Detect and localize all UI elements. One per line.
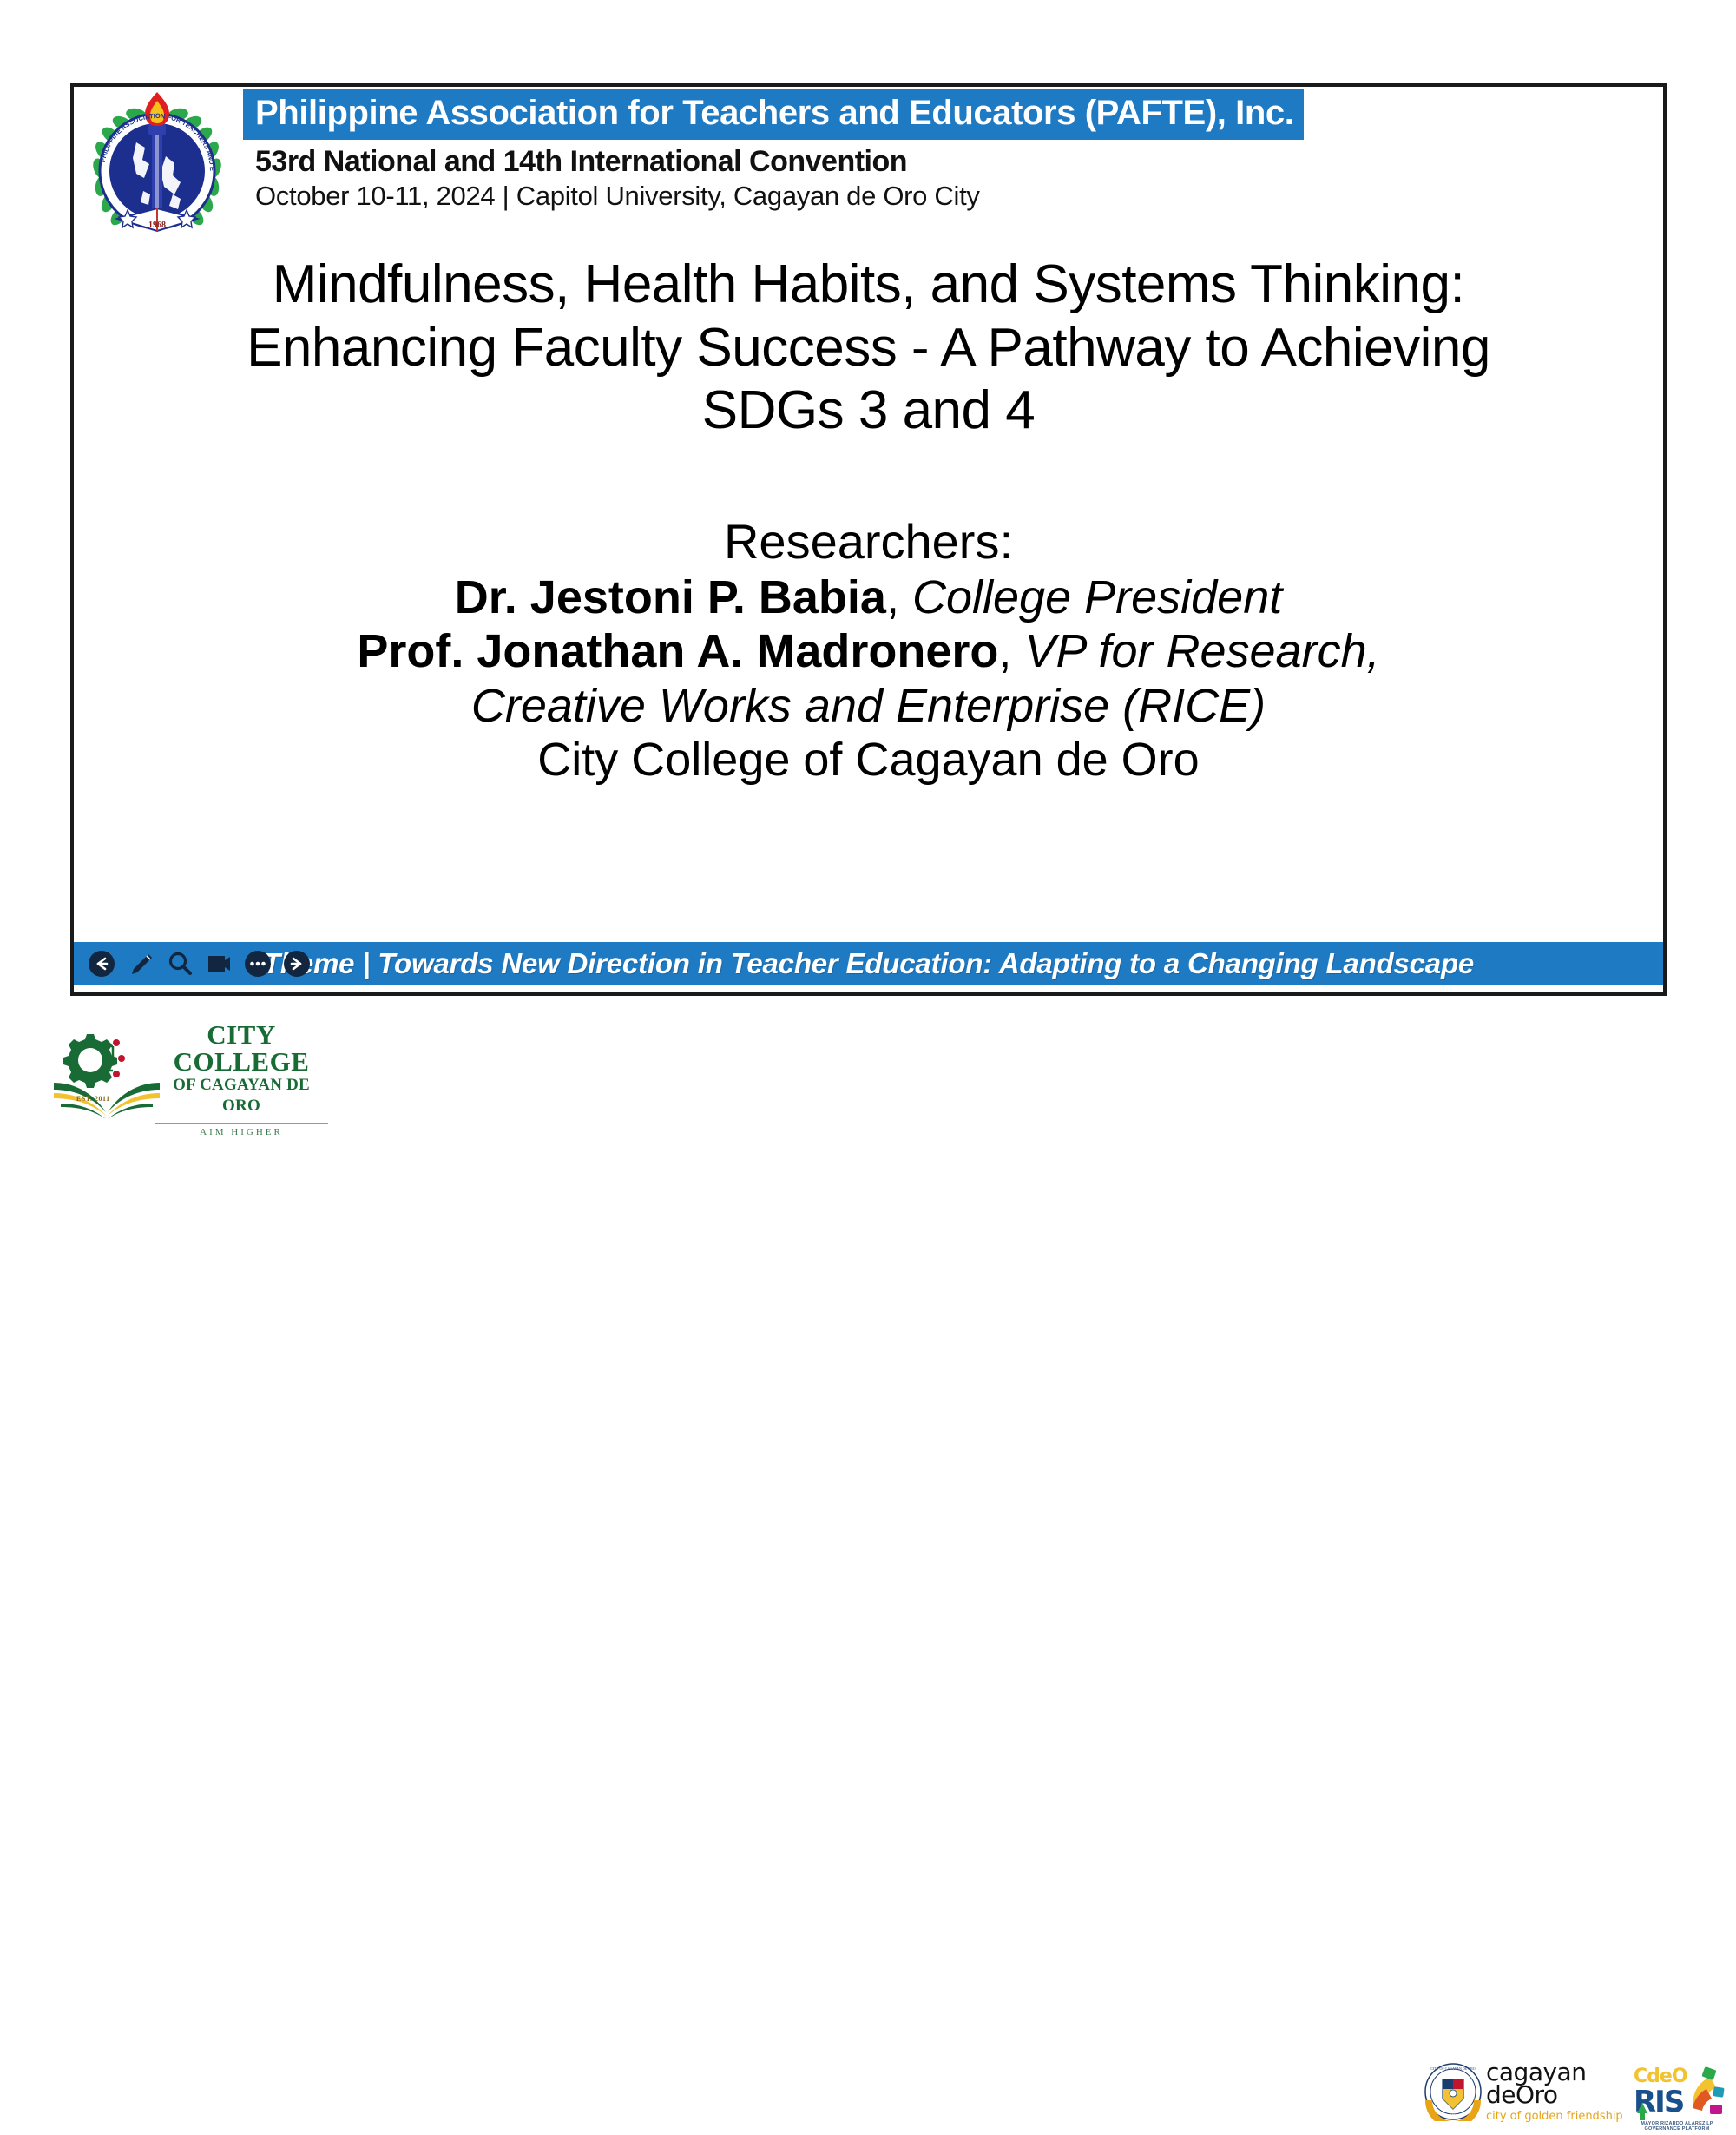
researcher-separator: , — [998, 625, 1024, 677]
convention-line: 53rd National and 14th International Con… — [243, 140, 1663, 178]
researcher-entry: Dr. Jestoni P. Babia, College President — [74, 570, 1663, 625]
cagayan-de-oro-wordmark: cagayan deOro city of golden friendship — [1486, 2061, 1625, 2123]
arrow-left-circle-icon — [87, 949, 116, 979]
pafte-seal-icon: 1968 PHILIPPINE ASSOCIATION FOR TEACHERS… — [82, 89, 232, 243]
slide-header: 1968 PHILIPPINE ASSOCIATION FOR TEACHERS… — [74, 87, 1663, 247]
title-researchers-spacer — [74, 443, 1663, 514]
city-college-title: CITY COLLEGE — [155, 1021, 328, 1075]
svg-text:PHILIPPINES: PHILIPPINES — [1443, 2113, 1463, 2118]
researcher-separator: , — [886, 571, 912, 623]
researcher-role-continuation: Creative Works and Enterprise (RICE) — [74, 679, 1663, 734]
city-college-wordmark: CITY COLLEGE OF CAGAYAN DE ORO AIM HIGHE… — [155, 1021, 328, 1137]
city-college-subtitle: OF CAGAYAN DE ORO — [155, 1075, 328, 1117]
arrow-right-circle-icon — [282, 949, 312, 979]
cdo-tagline: city of golden friendship — [1486, 2110, 1625, 2123]
researcher-name: Dr. Jestoni P. Babia — [455, 571, 886, 623]
theme-text: Theme | Towards New Direction in Teacher… — [263, 947, 1474, 980]
black-screen-toggle-button[interactable] — [203, 948, 234, 979]
theme-value: Towards New Direction in Teacher Educati… — [378, 947, 1474, 979]
researcher-role: College President — [912, 571, 1282, 623]
researcher-name: Prof. Jonathan A. Madronero — [357, 625, 998, 677]
next-slide-button[interactable] — [281, 948, 312, 979]
researcher-role: VP for Research, — [1024, 625, 1379, 677]
screen-icon — [204, 949, 233, 979]
more-options-button[interactable] — [242, 948, 273, 979]
page-footer: CITY COLLEGE OF CAGAYAN DE ORO AIM HIGHE… — [0, 1007, 1736, 1157]
organization-banner: Philippine Association for Teachers and … — [243, 89, 1304, 140]
pen-icon — [126, 949, 155, 979]
researchers-label: Researchers: — [74, 514, 1663, 570]
ris-tagline: MAYOR RIZARDO ALAREZ LP GOVERNANCE PLATF… — [1630, 2121, 1724, 2132]
date-venue-line: October 10-11, 2024 | Capitol University… — [243, 178, 1663, 212]
researcher-entry: Prof. Jonathan A. Madronero, VP for Rese… — [74, 624, 1663, 679]
cdo-line-1: cagayan — [1486, 2061, 1625, 2084]
previous-slide-button[interactable] — [86, 948, 117, 979]
page-title: Mindfulness, Health Habits, and Systems … — [74, 254, 1663, 443]
zoom-tool-button[interactable] — [164, 948, 195, 979]
svg-text:1968: 1968 — [148, 221, 166, 230]
city-college-tagline: AIM HIGHER — [155, 1123, 328, 1137]
presentation-slide[interactable]: 1968 PHILIPPINE ASSOCIATION FOR TEACHERS… — [70, 83, 1667, 996]
pen-tool-button[interactable] — [125, 948, 156, 979]
slide-body: Mindfulness, Health Habits, and Systems … — [74, 254, 1663, 787]
ellipsis-circle-icon — [243, 949, 273, 979]
city-college-established: EST. 2011 — [76, 1095, 110, 1103]
magnifier-icon — [165, 949, 194, 979]
header-text-block: Philippine Association for Teachers and … — [243, 89, 1663, 212]
slideshow-controls[interactable] — [86, 939, 312, 989]
cdo-line-2: deOro — [1486, 2084, 1625, 2106]
cagayan-de-oro-seal-icon: CITY OF CAGAYAN DE ORO PHILIPPINES — [1424, 2062, 1483, 2121]
svg-text:CITY OF CAGAYAN DE ORO: CITY OF CAGAYAN DE ORO — [1430, 2066, 1475, 2071]
affiliation-line: City College of Cagayan de Oro — [74, 733, 1663, 787]
